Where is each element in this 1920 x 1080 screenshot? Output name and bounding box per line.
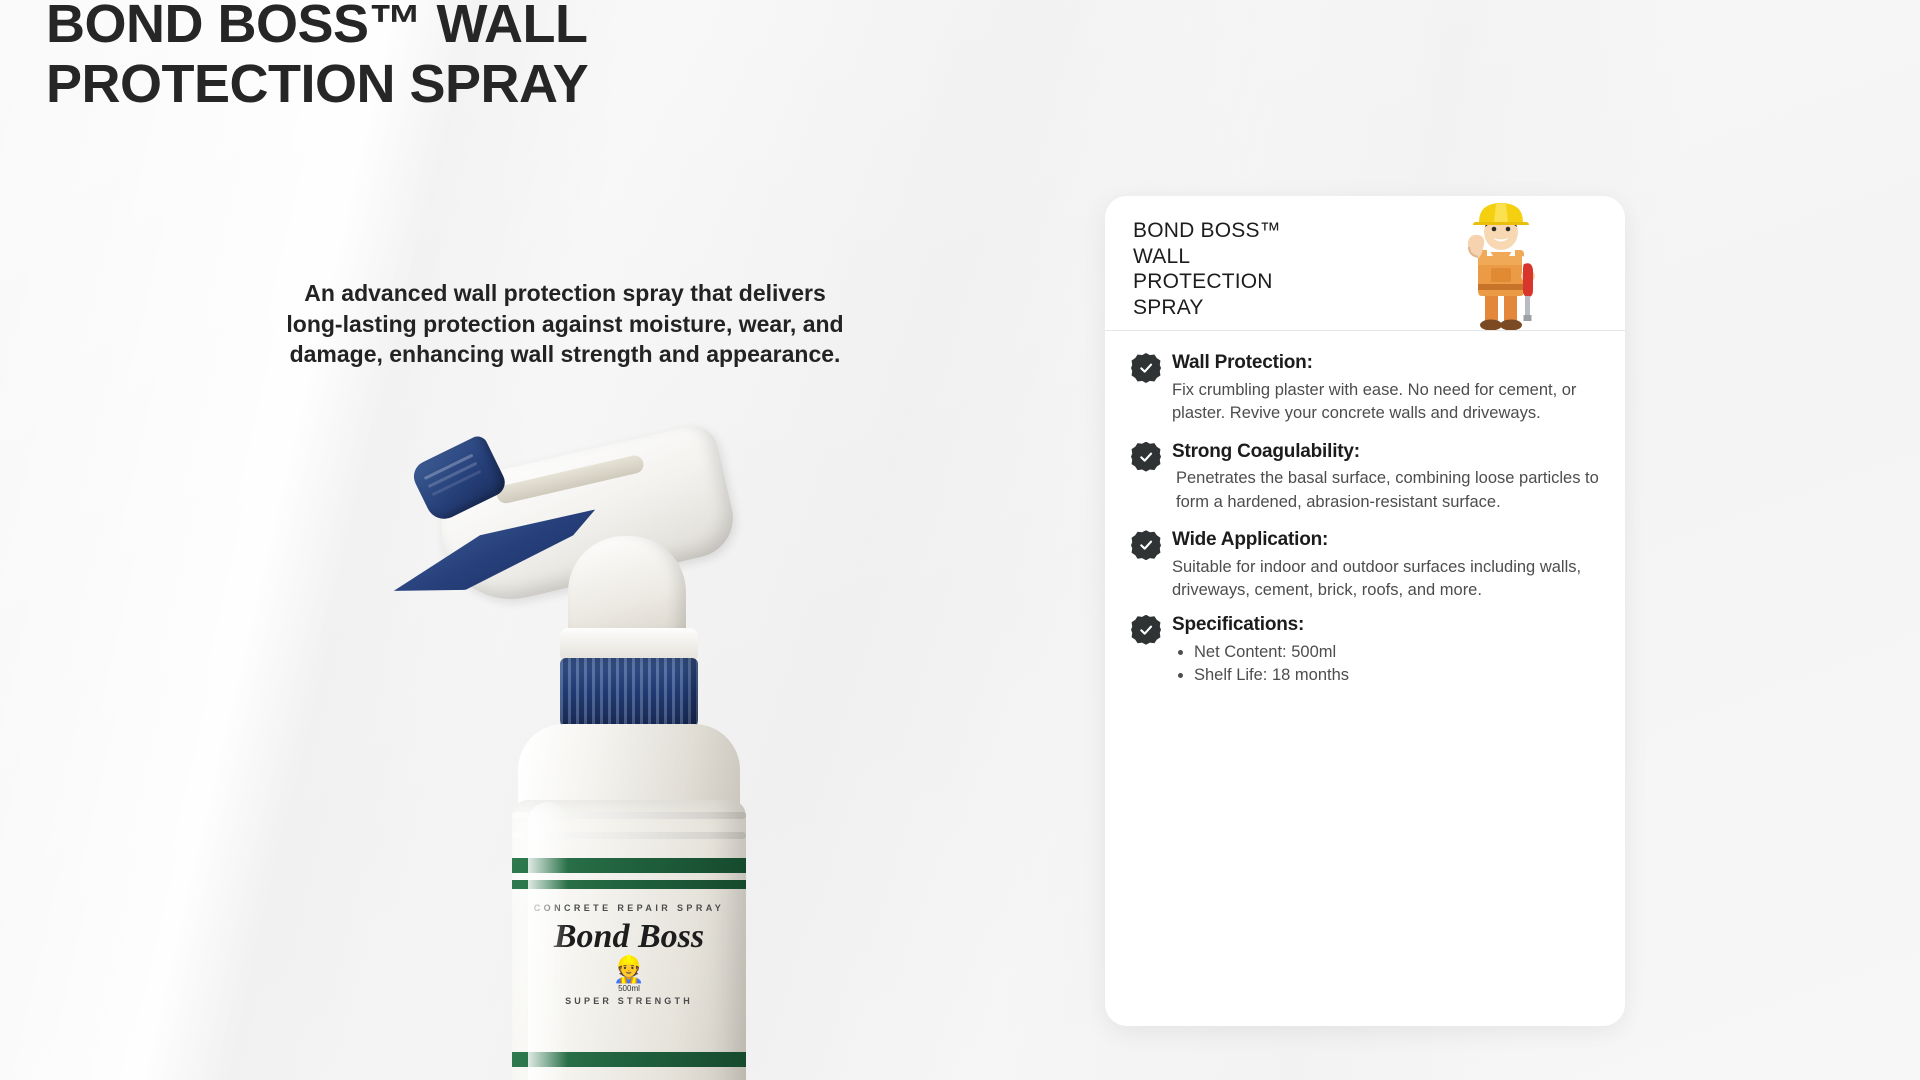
feature-description: Suitable for indoor and outdoor surfaces…	[1172, 556, 1599, 603]
specifications-item: Specifications: Net Content: 500ml Shelf…	[1131, 613, 1599, 689]
feature-description: Fix crumbling plaster with ease. No need…	[1172, 379, 1599, 426]
card-body: Wall Protection: Fix crumbling plaster w…	[1105, 331, 1625, 688]
collar-blue	[560, 658, 698, 730]
specifications-list: Net Content: 500ml Shelf Life: 18 months	[1194, 641, 1599, 689]
page-title: BOND BOSS™ WALL PROTECTION SPRAY	[46, 0, 686, 115]
label-band-top-2	[512, 880, 746, 889]
feature-item: Wide Application: Suitable for indoor an…	[1131, 528, 1599, 603]
label-volume: 500ml	[512, 984, 746, 993]
feature-description: Penetrates the basal surface, combining …	[1172, 467, 1599, 514]
bottle-label: CONCRETE REPAIR SPRAY Bond Boss 👷 500ml …	[512, 892, 746, 1052]
spec-list-item: Net Content: 500ml	[1194, 641, 1599, 665]
construction-worker-mascot-icon	[1449, 202, 1553, 330]
feature-title: Wall Protection:	[1172, 351, 1599, 375]
label-footer: SUPER STRENGTH	[512, 996, 746, 1006]
feature-item: Wall Protection: Fix crumbling plaster w…	[1131, 351, 1599, 426]
bottle-ring	[512, 812, 746, 819]
label-brand: Bond Boss	[512, 920, 746, 954]
bottle-ring	[512, 832, 746, 839]
feature-title: Wide Application:	[1172, 528, 1599, 552]
specifications-title: Specifications:	[1172, 613, 1599, 637]
card-header: BOND BOSS™ WALL PROTECTION SPRAY	[1105, 196, 1625, 331]
feature-title: Strong Coagulability:	[1172, 440, 1599, 464]
card-title: BOND BOSS™ WALL PROTECTION SPRAY	[1133, 218, 1423, 320]
check-badge-icon	[1131, 530, 1161, 560]
label-kicker: CONCRETE REPAIR SPRAY	[512, 902, 746, 916]
product-info-card: BOND BOSS™ WALL PROTECTION SPRAY	[1105, 196, 1625, 1026]
label-band-top	[512, 858, 746, 873]
check-badge-icon	[1131, 353, 1161, 383]
collar-white	[560, 628, 698, 662]
check-badge-icon	[1131, 615, 1161, 645]
spec-list-item: Shelf Life: 18 months	[1194, 664, 1599, 688]
check-badge-icon	[1131, 442, 1161, 472]
label-band-bottom	[512, 1052, 746, 1067]
product-image: CONCRETE REPAIR SPRAY Bond Boss 👷 500ml …	[400, 440, 820, 1080]
hero-subtitle: An advanced wall protection spray that d…	[276, 278, 854, 370]
feature-item: Strong Coagulability: Penetrates the bas…	[1131, 440, 1599, 515]
label-mascot-icon: 👷	[512, 956, 746, 982]
page-stage: BOND BOSS™ WALL PROTECTION SPRAY An adva…	[0, 0, 1920, 1080]
